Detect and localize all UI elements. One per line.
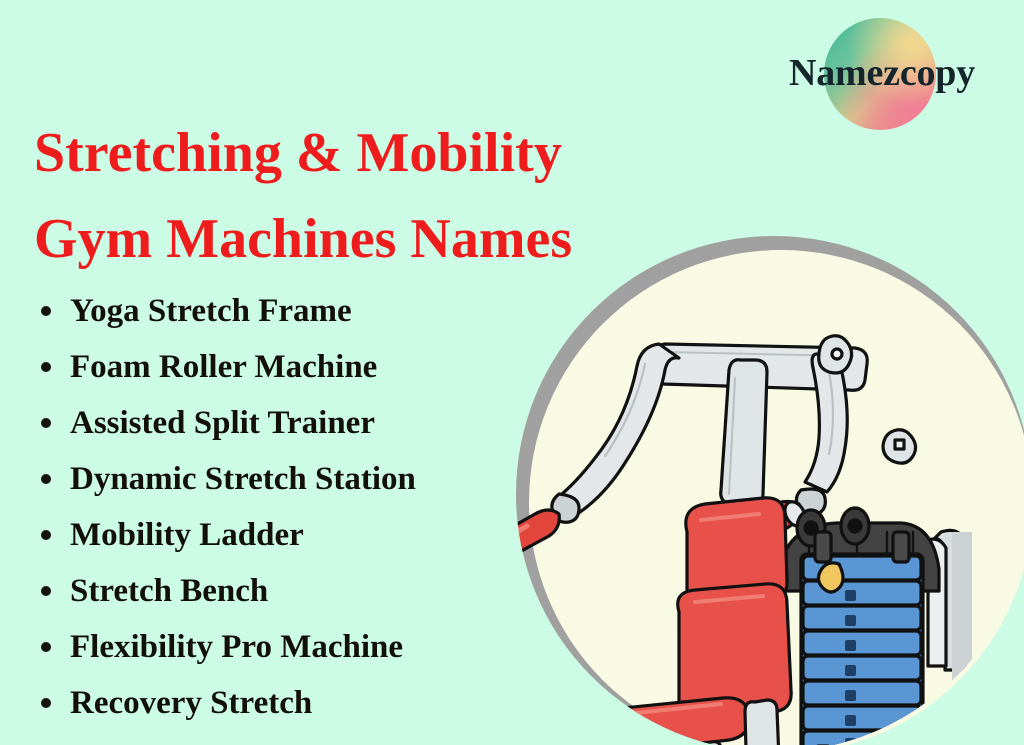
list-item-label: Dynamic Stretch Station bbox=[70, 461, 416, 497]
list-item[interactable]: Dynamic Stretch Station bbox=[34, 451, 574, 507]
list-item[interactable]: Yoga Stretch Frame bbox=[34, 283, 574, 339]
brand-logo-text: Namezcopy bbox=[762, 48, 1002, 98]
bullet-icon bbox=[41, 474, 51, 484]
machine-names-list: Yoga Stretch Frame Foam Roller Machine A… bbox=[34, 283, 574, 731]
list-item-label: Assisted Split Trainer bbox=[70, 405, 375, 441]
list-item[interactable]: Assisted Split Trainer bbox=[34, 395, 574, 451]
bullet-icon bbox=[41, 642, 51, 652]
side-pivot-bracket bbox=[883, 430, 916, 463]
top-pivot-bracket bbox=[819, 336, 852, 373]
list-item[interactable]: Stretch Bench bbox=[34, 563, 574, 619]
list-item-label: Flexibility Pro Machine bbox=[70, 629, 403, 665]
bullet-icon bbox=[41, 698, 51, 708]
seat-pad bbox=[569, 698, 749, 745]
bullet-icon bbox=[41, 418, 51, 428]
list-item[interactable]: Flexibility Pro Machine bbox=[34, 619, 574, 675]
weight-stack bbox=[801, 508, 923, 745]
list-item-label: Recovery Stretch bbox=[70, 685, 312, 721]
list-item-label: Mobility Ladder bbox=[70, 517, 304, 553]
brand-logo[interactable]: Namezcopy bbox=[762, 14, 1002, 134]
bullet-icon bbox=[41, 362, 51, 372]
list-item[interactable]: Foam Roller Machine bbox=[34, 339, 574, 395]
list-item-label: Stretch Bench bbox=[70, 573, 268, 609]
list-item-label: Foam Roller Machine bbox=[70, 349, 377, 385]
bullet-icon bbox=[41, 530, 51, 540]
poster-canvas: Namezcopy Stretching & Mobility Gym Mach… bbox=[0, 0, 1024, 745]
bullet-icon bbox=[41, 306, 51, 316]
center-mast bbox=[721, 360, 767, 506]
list-item-label: Yoga Stretch Frame bbox=[70, 293, 352, 329]
gym-machine-illustration bbox=[509, 232, 1024, 745]
page-title-line-1: Stretching & Mobility bbox=[34, 110, 754, 196]
list-item[interactable]: Mobility Ladder bbox=[34, 507, 574, 563]
bullet-icon bbox=[41, 586, 51, 596]
list-item[interactable]: Recovery Stretch bbox=[34, 675, 574, 731]
